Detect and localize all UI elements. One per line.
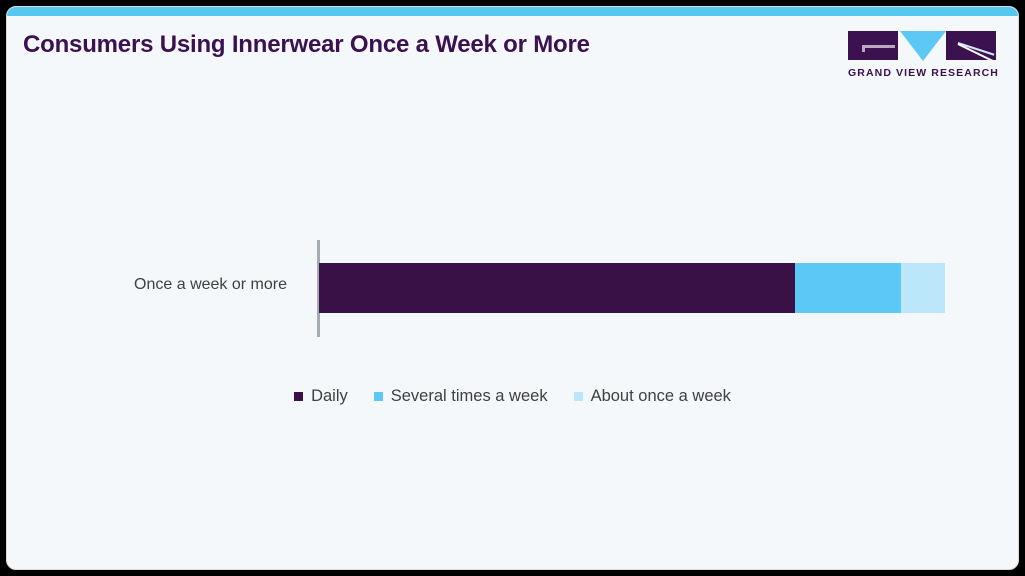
legend-item-several-times-a-week[interactable]: Several times a week (374, 387, 548, 406)
legend-swatch-several-times-a-week (374, 392, 383, 401)
legend-swatch-about-once-a-week (574, 392, 583, 401)
chart-plot-area: Once a week or more Daily Several times … (7, 7, 1018, 569)
bar-segment-daily (319, 263, 795, 313)
legend-item-daily[interactable]: Daily (294, 387, 348, 406)
chart-legend: Daily Several times a week About once a … (7, 387, 1018, 406)
stacked-bar (319, 263, 945, 313)
legend-label-daily: Daily (311, 387, 348, 406)
legend-swatch-daily (294, 392, 303, 401)
legend-item-about-once-a-week[interactable]: About once a week (574, 387, 731, 406)
legend-label-about-once-a-week: About once a week (591, 387, 731, 406)
bar-segment-several-times-a-week (795, 263, 901, 313)
bar-segment-about-once-a-week (901, 263, 945, 313)
chart-card: Consumers Using Innerwear Once a Week or… (6, 6, 1019, 570)
legend-label-several-times-a-week: Several times a week (391, 387, 548, 406)
y-axis-tick-label: Once a week or more (134, 276, 287, 294)
